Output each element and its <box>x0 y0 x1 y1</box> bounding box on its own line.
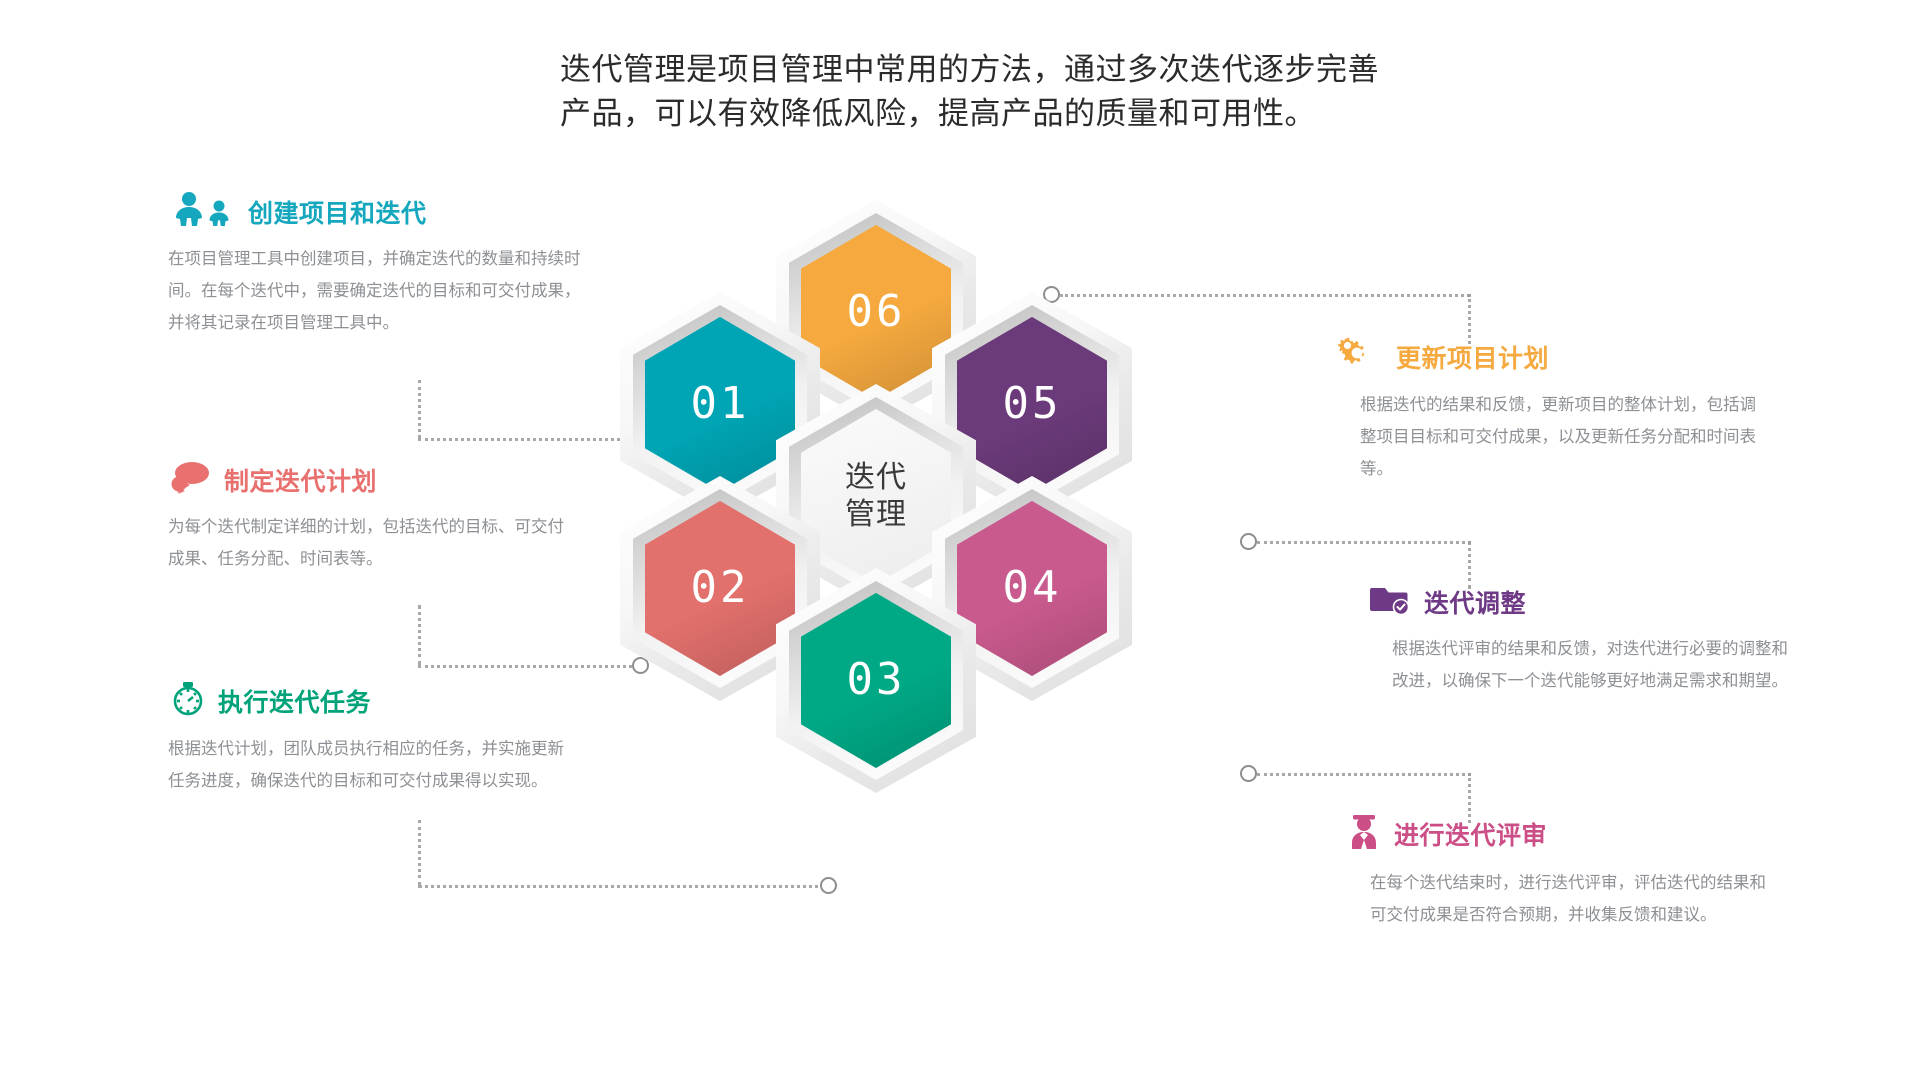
section-update-plan-body: 根据迭代的结果和反馈，更新项目的整体计划，包括调整项目目标和可交付成果，以及更新… <box>1338 389 1768 486</box>
hex-cell-03[interactable]: 03 <box>776 568 976 793</box>
hex-number-04: 04 <box>1003 566 1062 610</box>
hex-number-02: 02 <box>691 566 750 610</box>
section-create-project: 创建项目和迭代 在项目管理工具中创建项目，并确定迭代的数量和持续时间。在每个迭代… <box>168 192 588 340</box>
section-execute-tasks-title: 执行迭代任务 <box>218 683 371 719</box>
section-review-iteration-body: 在每个迭代结束时，进行迭代评审，评估迭代的结果和可交付成果是否符合预期，并收集反… <box>1348 867 1768 931</box>
connector-line-right-2-horizontal <box>1257 541 1471 544</box>
connector-line-left-1-vertical <box>418 380 421 438</box>
connector-node-right-2 <box>1240 533 1257 550</box>
section-plan-iteration: 制定迭代计划 为每个迭代制定详细的计划，包括迭代的目标、可交付成果、任务分配、时… <box>168 460 568 575</box>
center-label-line-2: 管理 <box>845 497 907 534</box>
connector-node-left-3 <box>820 877 837 894</box>
hex-number-05: 05 <box>1003 382 1062 426</box>
section-adjust-iteration-header: 迭代调整 <box>1370 582 1790 621</box>
connector-line-left-3-vertical <box>418 820 421 885</box>
section-create-project-header: 创建项目和迭代 <box>168 192 588 231</box>
section-execute-tasks-header: 执行迭代任务 <box>168 680 578 721</box>
section-update-plan-title: 更新项目计划 <box>1396 339 1549 375</box>
hexagon-cluster: 06 01 05 迭代 管理 <box>600 200 1180 840</box>
businessperson-icon <box>1348 812 1384 855</box>
section-plan-iteration-body: 为每个迭代制定详细的计划，包括迭代的目标、可交付成果、任务分配、时间表等。 <box>168 511 568 575</box>
section-review-iteration: 进行迭代评审 在每个迭代结束时，进行迭代评审，评估迭代的结果和可交付成果是否符合… <box>1348 812 1768 931</box>
connector-node-right-3 <box>1240 765 1257 782</box>
hex-number-06: 06 <box>847 290 906 334</box>
section-execute-tasks-body: 根据迭代计划，团队成员执行相应的任务，并实施更新任务进度，确保迭代的目标和可交付… <box>168 733 578 797</box>
stopwatch-icon <box>168 680 208 721</box>
people-icon <box>168 192 238 231</box>
connector-line-right-3-horizontal <box>1257 773 1471 776</box>
center-label-line-1: 迭代 <box>845 460 907 497</box>
hex-number-01: 01 <box>691 382 750 426</box>
section-create-project-title: 创建项目和迭代 <box>248 194 427 230</box>
connector-line-left-2-vertical <box>418 605 421 665</box>
section-plan-iteration-title: 制定迭代计划 <box>224 462 377 498</box>
section-adjust-iteration-body: 根据迭代评审的结果和反馈，对迭代进行必要的调整和改进，以确保下一个迭代能够更好地… <box>1370 633 1790 697</box>
section-adjust-iteration-title: 迭代调整 <box>1424 584 1526 620</box>
folder-check-icon <box>1370 582 1414 621</box>
section-plan-iteration-header: 制定迭代计划 <box>168 460 568 499</box>
title-line-1: 迭代管理是项目管理中常用的方法，通过多次迭代逐步完善 <box>560 52 1379 87</box>
hex-number-03: 03 <box>847 658 906 702</box>
section-adjust-iteration: 迭代调整 根据迭代评审的结果和反馈，对迭代进行必要的调整和改进，以确保下一个迭代… <box>1370 582 1790 697</box>
section-review-iteration-header: 进行迭代评审 <box>1348 812 1768 855</box>
section-create-project-body: 在项目管理工具中创建项目，并确定迭代的数量和持续时间。在每个迭代中，需要确定迭代… <box>168 243 588 340</box>
section-execute-tasks: 执行迭代任务 根据迭代计划，团队成员执行相应的任务，并实施更新任务进度，确保迭代… <box>168 680 578 797</box>
infographic-canvas: 迭代管理是项目管理中常用的方法，通过多次迭代逐步完善 产品，可以有效降低风险，提… <box>0 0 1920 1079</box>
section-review-iteration-title: 进行迭代评审 <box>1394 816 1547 852</box>
gears-icon <box>1338 336 1386 377</box>
speech-bubble-icon <box>168 460 214 499</box>
title-line-2: 产品，可以有效降低风险，提高产品的质量和可用性。 <box>560 92 1560 136</box>
page-title: 迭代管理是项目管理中常用的方法，通过多次迭代逐步完善 产品，可以有效降低风险，提… <box>560 48 1560 136</box>
connector-line-left-3-horizontal <box>418 885 826 888</box>
section-update-plan-header: 更新项目计划 <box>1338 336 1768 377</box>
section-update-plan: 更新项目计划 根据迭代的结果和反馈，更新项目的整体计划，包括调整项目目标和可交付… <box>1338 336 1768 486</box>
